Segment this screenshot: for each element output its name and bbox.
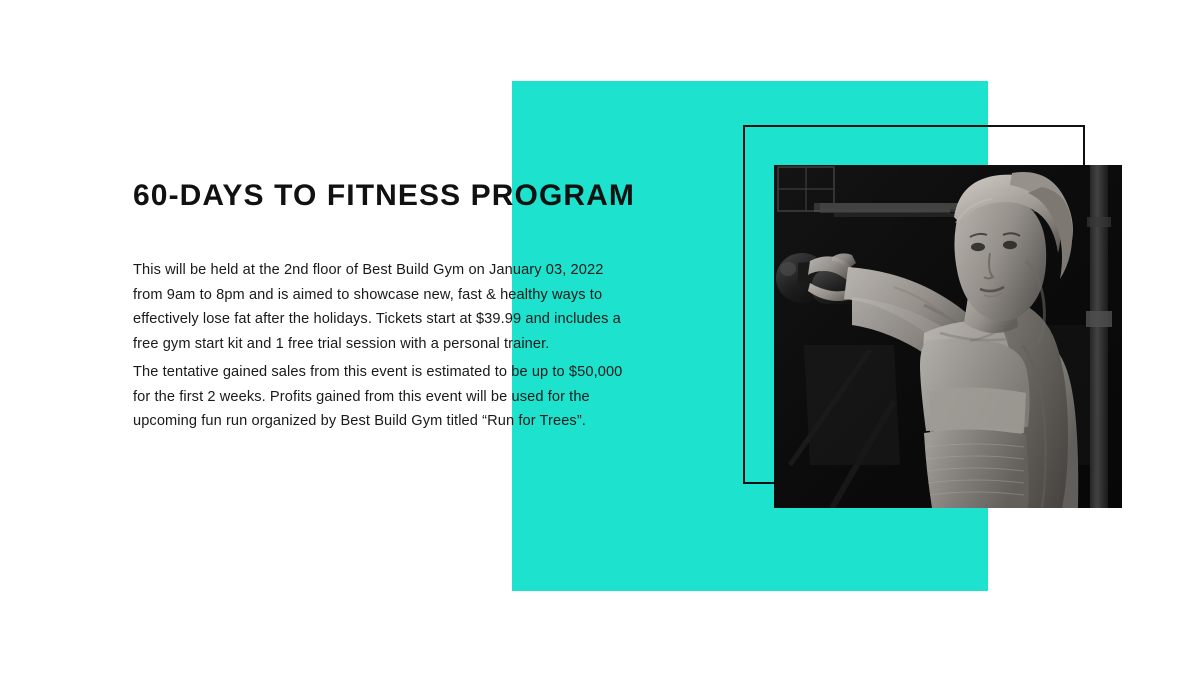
paragraph-2: The tentative gained sales from this eve… bbox=[133, 360, 623, 434]
paragraph-1: This will be held at the 2nd floor of Be… bbox=[133, 258, 623, 356]
fitness-photo bbox=[774, 165, 1122, 508]
description-text-block: This will be held at the 2nd floor of Be… bbox=[133, 258, 623, 434]
presentation-slide: 60-DAYS TO FITNESS PROGRAM This will be … bbox=[0, 0, 1200, 675]
page-title: 60-DAYS TO FITNESS PROGRAM bbox=[133, 178, 635, 214]
fitness-photo-illustration bbox=[774, 165, 1122, 508]
